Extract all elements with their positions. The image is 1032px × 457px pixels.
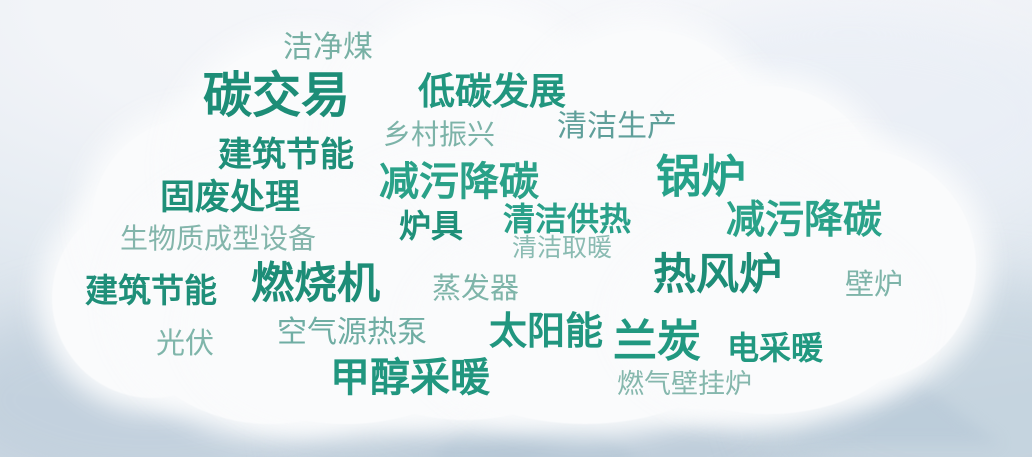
word-cloud-term: 锅炉 xyxy=(656,154,746,199)
word-cloud-term: 固废处理 xyxy=(160,180,300,215)
word-cloud-term: 清洁取暖 xyxy=(512,236,612,261)
word-cloud-term: 建筑节能 xyxy=(218,138,354,172)
word-cloud-term: 清洁供热 xyxy=(503,203,631,235)
word-cloud-term: 炉具 xyxy=(399,210,463,242)
word-cloud-term: 空气源热泵 xyxy=(277,318,427,348)
word-cloud-term: 甲醇采暖 xyxy=(330,358,490,398)
word-cloud-graphic: 洁净煤碳交易低碳发展乡村振兴清洁生产建筑节能减污降碳锅炉固废处理炉具清洁供热减污… xyxy=(0,0,1032,457)
word-cloud-term: 低碳发展 xyxy=(418,73,566,110)
word-cloud-term: 燃气壁挂炉 xyxy=(617,371,752,398)
word-cloud-term: 洁净煤 xyxy=(283,33,373,63)
word-cloud-term: 生物质成型设备 xyxy=(120,225,316,253)
word-list: 洁净煤碳交易低碳发展乡村振兴清洁生产建筑节能减污降碳锅炉固废处理炉具清洁供热减污… xyxy=(0,0,1032,457)
word-cloud-term: 太阳能 xyxy=(489,313,603,351)
word-cloud-term: 减污降碳 xyxy=(379,162,539,202)
word-cloud-term: 减污降碳 xyxy=(726,201,882,240)
word-cloud-term: 燃烧机 xyxy=(251,263,380,306)
word-cloud-term: 清洁生产 xyxy=(557,112,677,142)
word-cloud-term: 蒸发器 xyxy=(432,275,519,304)
word-cloud-term: 热风炉 xyxy=(653,254,782,297)
word-cloud-term: 碳交易 xyxy=(203,72,350,121)
word-cloud-term: 光伏 xyxy=(156,330,214,359)
word-cloud-term: 壁炉 xyxy=(845,271,903,300)
word-cloud-term: 乡村振兴 xyxy=(383,121,495,149)
word-cloud-term: 建筑节能 xyxy=(85,274,217,307)
word-cloud-term: 电采暖 xyxy=(727,332,823,364)
word-cloud-term: 兰炭 xyxy=(613,320,701,364)
